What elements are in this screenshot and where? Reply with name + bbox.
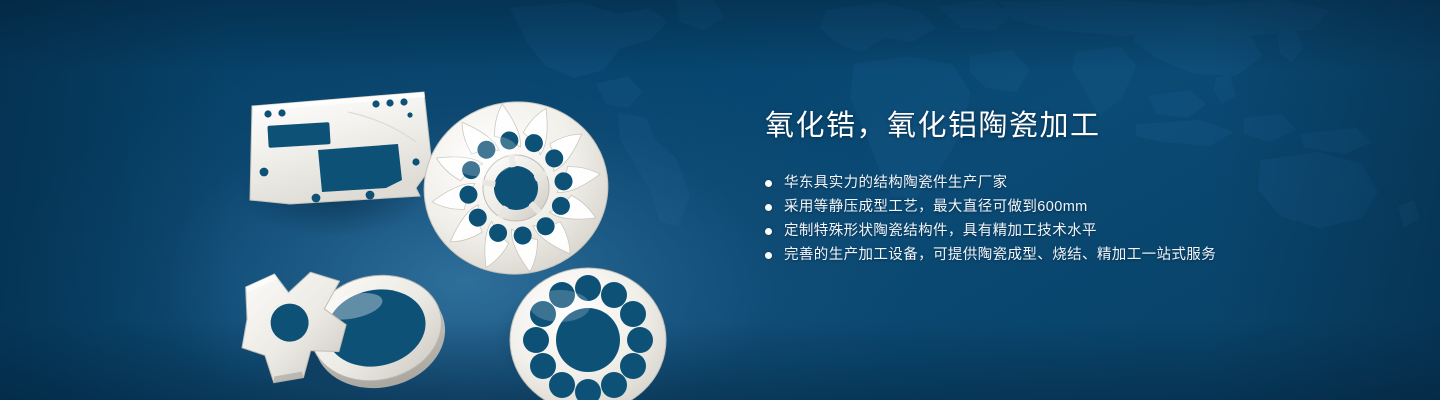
ceramic-products-image: [230, 40, 700, 380]
list-item: 采用等静压成型工艺，最大直径可做到600mm: [765, 196, 1385, 219]
list-item: 完善的生产加工设备，可提供陶瓷成型、烧结、精加工一站式服务: [765, 244, 1385, 267]
list-item: 定制特殊形状陶瓷结构件，具有精加工技术水平: [765, 220, 1385, 243]
banner-headline: 氧化锆，氧化铝陶瓷加工: [765, 108, 1385, 144]
feature-text: 完善的生产加工设备，可提供陶瓷成型、烧结、精加工一站式服务: [784, 244, 1216, 267]
feature-list: 华东具实力的结构陶瓷件生产厂家 采用等静压成型工艺，最大直径可做到600mm 定…: [765, 172, 1385, 267]
ceramic-perforated-ring-part: [510, 268, 666, 400]
bullet-dot-icon: [765, 228, 772, 235]
ceramic-plate-part: [250, 92, 432, 204]
list-item: 华东具实力的结构陶瓷件生产厂家: [765, 172, 1385, 195]
feature-text: 定制特殊形状陶瓷结构件，具有精加工技术水平: [784, 220, 1097, 243]
ceramic-processing-banner: 氧化锆，氧化铝陶瓷加工 华东具实力的结构陶瓷件生产厂家 采用等静压成型工艺，最大…: [0, 0, 1440, 400]
feature-text: 华东具实力的结构陶瓷件生产厂家: [784, 172, 1008, 195]
bullet-dot-icon: [765, 252, 772, 259]
bullet-dot-icon: [765, 204, 772, 211]
feature-text: 采用等静压成型工艺，最大直径可做到600mm: [784, 196, 1088, 219]
banner-copy-block: 氧化锆，氧化铝陶瓷加工 华东具实力的结构陶瓷件生产厂家 采用等静压成型工艺，最大…: [765, 108, 1385, 268]
bullet-dot-icon: [765, 180, 772, 187]
ceramic-impeller-part: [413, 90, 619, 286]
